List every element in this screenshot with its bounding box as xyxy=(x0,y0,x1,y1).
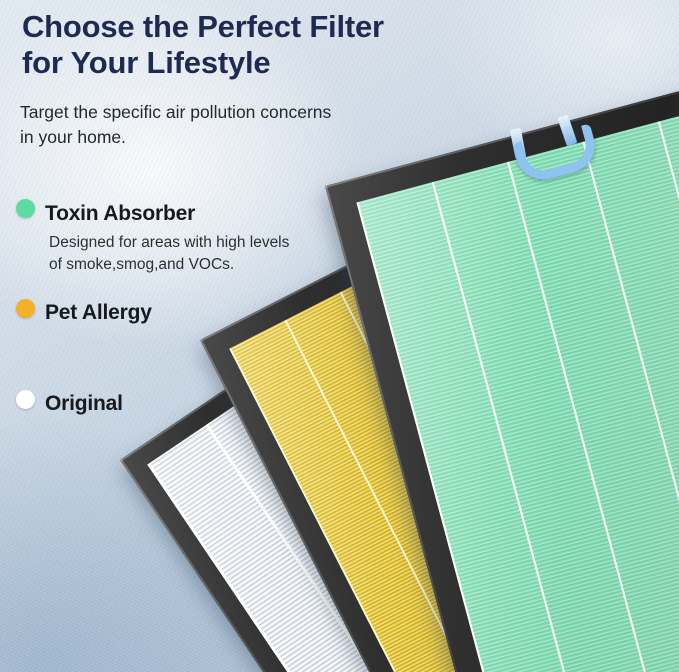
page-subtitle: Target the specific air pollution concer… xyxy=(20,100,440,150)
bullet-dot-icon xyxy=(16,299,35,318)
page-subtitle-line2: in your home. xyxy=(20,125,440,150)
page-title-line1: Choose the Perfect Filter xyxy=(22,9,384,44)
pull-tab-handle xyxy=(509,114,582,178)
promo-banner: Choose the Perfect Filter for Your Lifes… xyxy=(0,0,679,672)
bullet-dot-icon xyxy=(16,199,35,218)
list-item-label: Original xyxy=(45,392,123,416)
page-title: Choose the Perfect Filter for Your Lifes… xyxy=(22,9,552,81)
bullet-dot-icon xyxy=(16,390,35,409)
list-item-description-line2: of smoke,smog,and VOCs. xyxy=(49,254,289,276)
page-title-line2: for Your Lifestyle xyxy=(22,45,552,81)
list-item-description: Designed for areas with high levels of s… xyxy=(49,232,289,276)
list-item-label: Toxin Absorber xyxy=(45,202,195,226)
list-item-description-line1: Designed for areas with high levels xyxy=(49,234,289,251)
page-subtitle-line1: Target the specific air pollution concer… xyxy=(20,102,331,122)
list-item-label: Pet Allergy xyxy=(45,301,152,325)
